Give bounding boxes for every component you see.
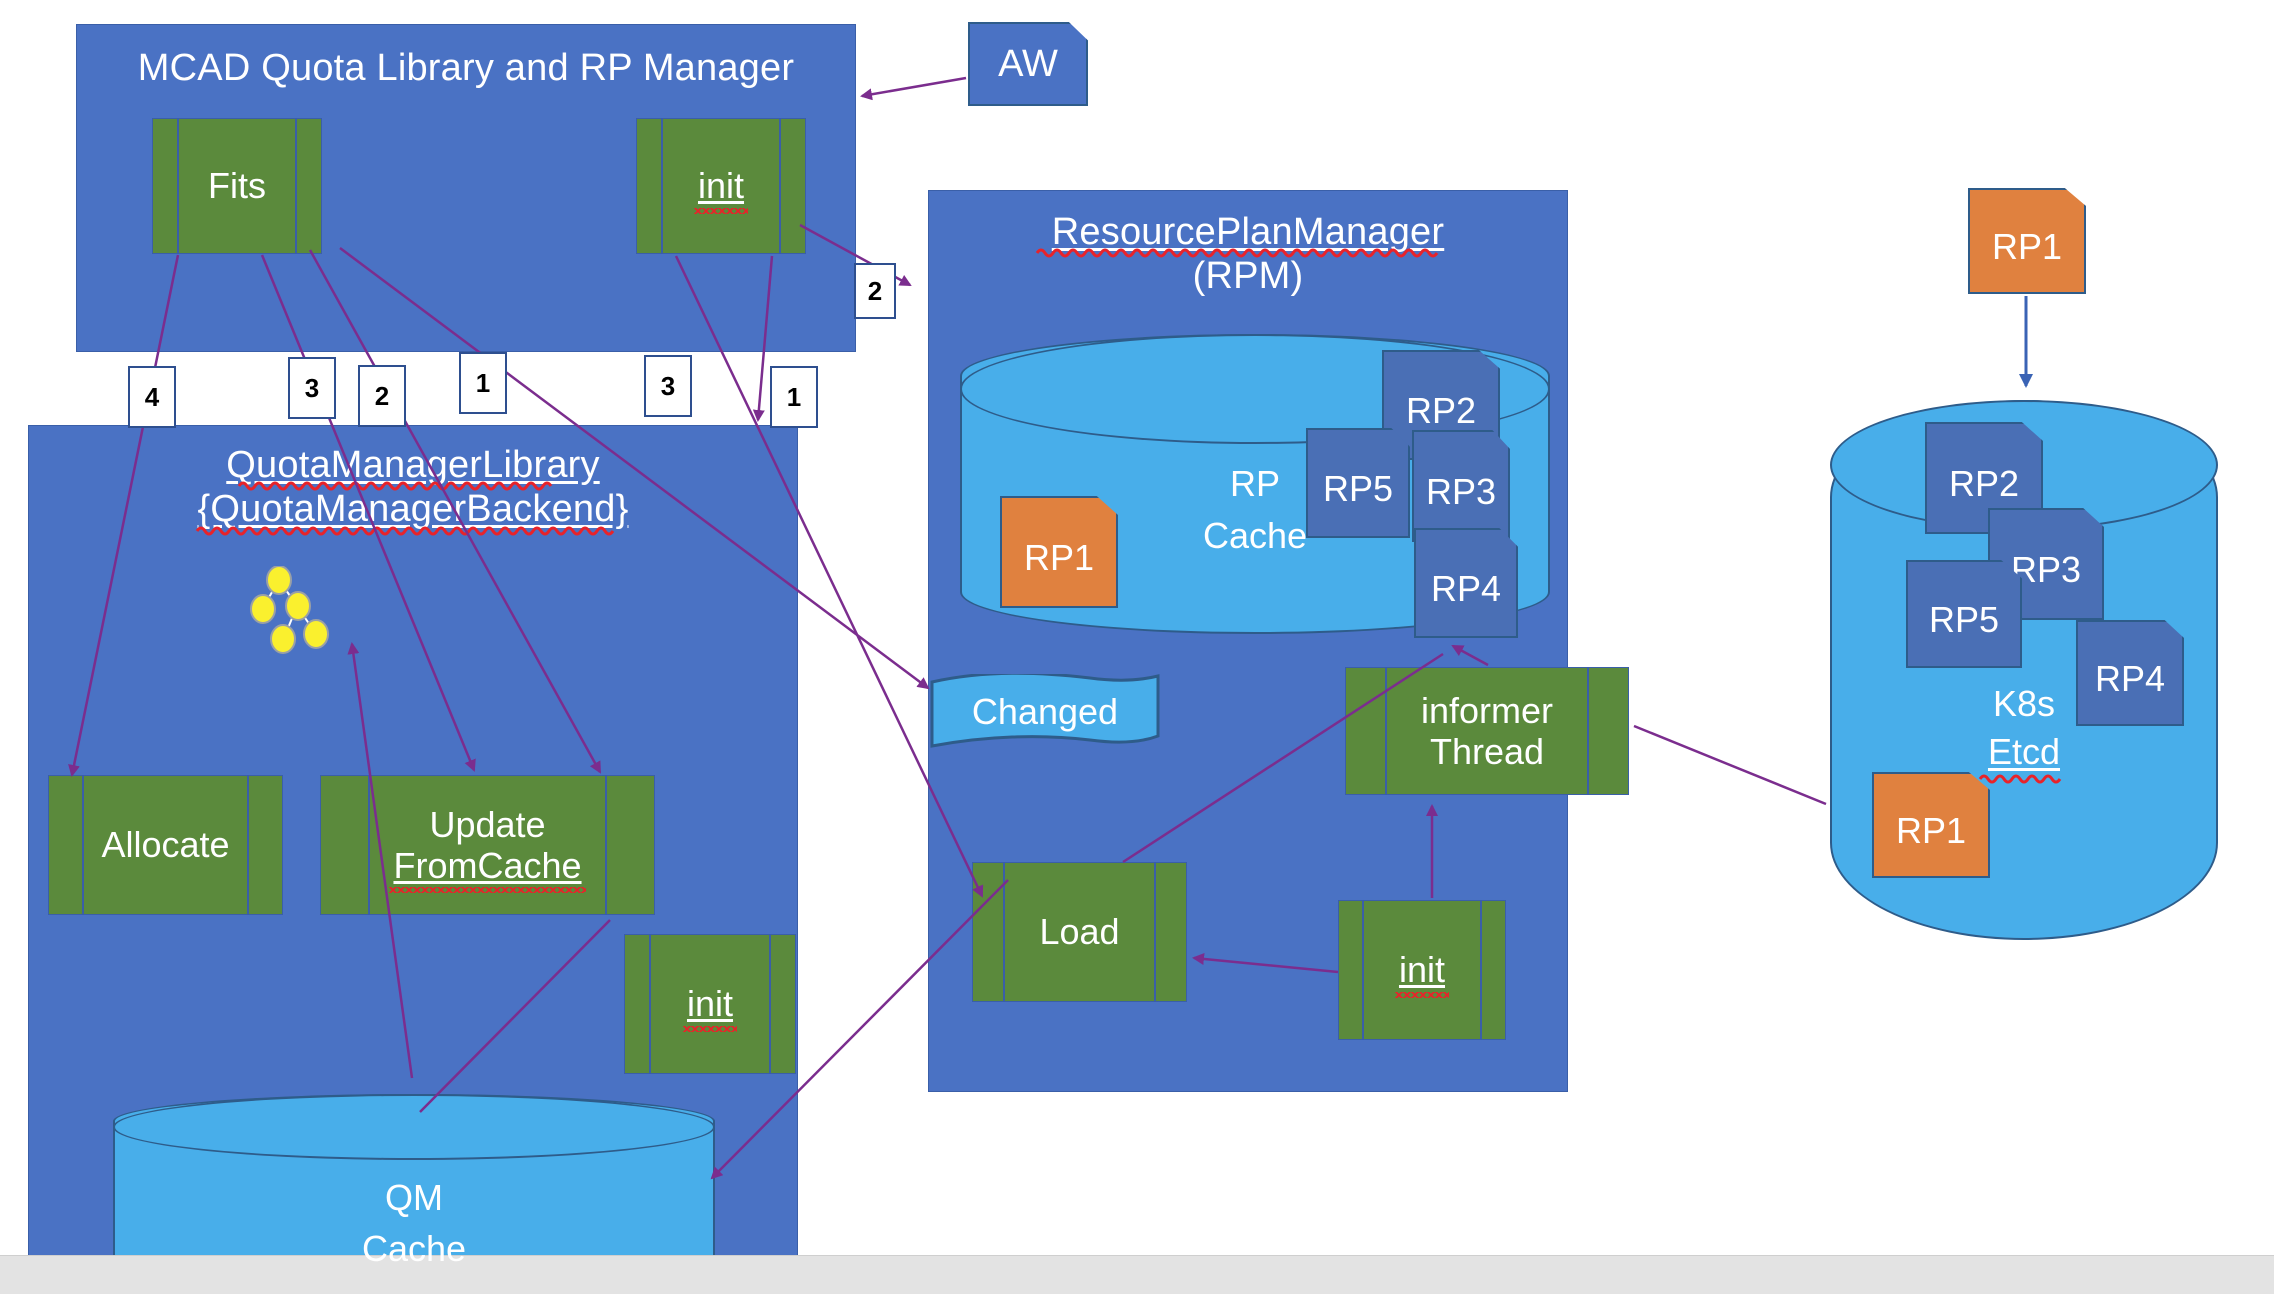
rpm-init-box[interactable]: init (1338, 900, 1506, 1040)
etcd-incoming-rp1-card[interactable]: RP1 (1968, 188, 2086, 294)
etcd-spellcheck-squiggle (1830, 400, 2218, 800)
informer-thread-label-line1: informer (1417, 690, 1557, 731)
qm-cache-label-line2: Cache (113, 1227, 715, 1270)
rp-card-label: RP1 (1896, 810, 1966, 852)
rp-card-label: RP4 (1431, 568, 1501, 610)
mcad-init-label: init (694, 165, 748, 206)
sequence-label-3b: 3 (644, 355, 692, 417)
proc-bar-left (1362, 901, 1364, 1039)
proc-bar-right (1154, 863, 1156, 1001)
proc-bar-left (1003, 863, 1005, 1001)
binary-tree-icon (246, 566, 346, 661)
informer-thread-label-line2: Thread (1426, 731, 1548, 772)
rp-card-label: RP2 (1406, 390, 1476, 432)
sequence-label-1a: 1 (459, 352, 507, 414)
quota-update-from-cache-box[interactable]: Update FromCache (320, 775, 655, 915)
changed-banner: Changed (930, 674, 1160, 750)
proc-bar-left (177, 119, 179, 253)
sequence-label-value: 1 (476, 368, 490, 399)
quota-allocate-box[interactable]: Allocate (48, 775, 283, 915)
proc-bar-right (1587, 668, 1589, 794)
proc-bar-left (661, 119, 663, 253)
proc-bar-right (1480, 901, 1482, 1039)
rpm-informer-thread-box[interactable]: informer Thread (1345, 667, 1629, 795)
qm-cache-label-line1: QM (113, 1176, 715, 1219)
changed-banner-label: Changed (972, 691, 1118, 733)
proc-bar-left (649, 935, 651, 1073)
quota-init-box[interactable]: init (624, 934, 796, 1074)
aw-label: AW (998, 43, 1058, 86)
proc-bar-right (779, 119, 781, 253)
mcad-fits-box[interactable]: Fits (152, 118, 322, 254)
quota-update-label-line1: Update (425, 804, 549, 845)
quota-update-label-line2: FromCache (389, 845, 585, 886)
rpm-load-label: Load (1035, 911, 1123, 952)
qm-cache-cylinder: QM Cache (113, 1094, 715, 1288)
sequence-label-value: 3 (661, 371, 675, 402)
sequence-label-value: 3 (305, 373, 319, 404)
rpm-load-box[interactable]: Load (972, 862, 1187, 1002)
proc-bar-right (605, 776, 607, 914)
line-etcd-to-informer (1634, 726, 1826, 804)
sequence-label-2b: 2 (358, 365, 406, 427)
proc-bar-right (247, 776, 249, 914)
rp-cache-label-line2: Cache (960, 514, 1550, 557)
sequence-label-4: 4 (128, 366, 176, 428)
sequence-label-2a: 2 (854, 263, 896, 319)
rp-card-label: RP1 (1992, 226, 2062, 268)
proc-bar-left (1385, 668, 1387, 794)
cylinder-top-ellipse (113, 1094, 715, 1160)
sequence-label-3a: 3 (288, 357, 336, 419)
quota-init-label: init (683, 983, 737, 1024)
arrow-aw-to-mcad (862, 78, 966, 96)
diagram-canvas: MCAD Quota Library and RP Manager Fits i… (0, 0, 2274, 1294)
sequence-label-1b: 1 (770, 366, 818, 428)
title-spellcheck-squiggle (29, 426, 797, 556)
proc-bar-right (295, 119, 297, 253)
quota-allocate-label: Allocate (97, 824, 233, 865)
sequence-label-value: 1 (787, 382, 801, 413)
proc-bar-right (769, 935, 771, 1073)
mcad-fits-label: Fits (204, 165, 270, 206)
aw-document[interactable]: AW (968, 22, 1088, 106)
mcad-panel-title: MCAD Quota Library and RP Manager (77, 47, 855, 90)
sequence-label-value: 2 (375, 381, 389, 412)
rp-cache-label-line1: RP (960, 462, 1550, 505)
rpm-init-label: init (1395, 949, 1449, 990)
proc-bar-left (82, 776, 84, 914)
sequence-label-value: 2 (868, 276, 882, 307)
rpm-title-spellcheck-squiggle (929, 191, 1567, 311)
sequence-label-value: 4 (145, 382, 159, 413)
mcad-init-box[interactable]: init (636, 118, 806, 254)
proc-bar-left (368, 776, 370, 914)
